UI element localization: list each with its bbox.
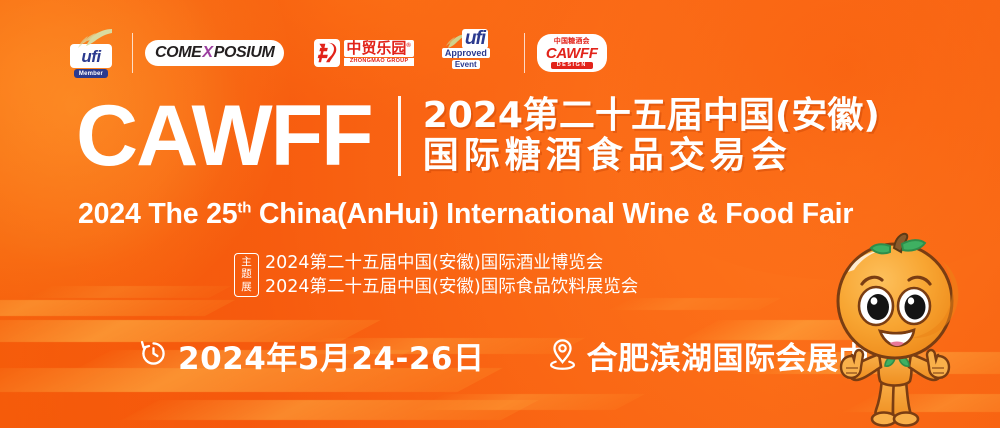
subtitle-post: China(AnHui) International Wine & Food F… (251, 198, 853, 230)
english-subtitle: 2024 The 25th China(AnHui) International… (78, 198, 853, 231)
chinese-title-line-2: 国际糖酒食品交易会 (423, 137, 880, 175)
chinese-title: 2024第二十五届中国(安徽) 国际糖酒食品交易会 (423, 97, 880, 175)
logo-ufi-member-badge: Member (74, 69, 108, 78)
cawff-seal-top-text: 中国糖酒会 (554, 38, 590, 45)
zhongmao-english-name: ZHONGMAO GROUP (344, 58, 413, 66)
subtitle-ordinal: th (237, 200, 251, 217)
theme-badge-char-3: 展 (241, 282, 252, 294)
comexposium-text-left: COME (155, 44, 201, 62)
clock-icon (138, 338, 169, 374)
comexposium-text-right: POSIUM (214, 44, 275, 62)
logo-zhongmao-group[interactable]: 中贸乐园® ZHONGMAO GROUP (314, 39, 413, 67)
theme-badge-char-2: 题 (241, 269, 252, 281)
theme-badge-char-1: 主 (241, 257, 252, 269)
theme-line-2: 2024第二十五届中国(安徽)国际食品饮料展览会 (265, 277, 638, 298)
event-date-text: 2024年5月24-26日 (178, 333, 485, 378)
comexposium-x-mark: X (201, 44, 213, 62)
zhongmao-seal-icon (314, 39, 340, 67)
zhongmao-chinese-name: 中贸乐园® (344, 40, 413, 57)
wing-icon (66, 27, 114, 49)
headline-divider (398, 96, 401, 176)
ufi-approved-wordmark: ufi (462, 29, 488, 49)
headline-block: CAWFF 2024第二十五届中国(安徽) 国际糖酒食品交易会 (76, 96, 880, 176)
ufi-approved-label: Approved (442, 48, 490, 58)
theme-badge: 主 题 展 (234, 253, 259, 297)
logo-divider-4 (524, 33, 525, 73)
logo-cawff-seal[interactable]: 中国糖酒会 CAWFF DESIGN (537, 34, 607, 73)
map-pin-icon (547, 337, 578, 375)
cawff-seal-wordmark: CAWFF (546, 46, 598, 61)
logo-divider-1 (132, 33, 133, 73)
ufi-event-label: Event (452, 60, 480, 69)
cawff-seal-sub-text: DESIGN (551, 62, 593, 70)
logo-comexposium[interactable]: COME X POSIUM (145, 40, 284, 66)
event-date: 2024年5月24-26日 (138, 333, 485, 378)
exhibition-banner: ufi Member COME X POSIUM 中贸乐园® ZHONGMAO (0, 0, 1000, 428)
theme-line-1: 2024第二十五届中国(安徽)国际酒业博览会 (265, 253, 638, 274)
event-meta-row: 2024年5月24-26日 合肥滨湖国际会展中心 (138, 333, 902, 378)
chinese-title-line-1: 2024第二十五届中国(安徽) (423, 97, 880, 135)
partner-logo-strip: ufi Member COME X POSIUM 中贸乐园® ZHONGMAO (62, 27, 607, 79)
subtitle-pre: 2024 The 25 (78, 198, 237, 230)
orange-mascot-thumbs-up (802, 228, 992, 428)
brand-wordmark: CAWFF (76, 100, 372, 172)
logo-ufi-approved-event[interactable]: ufi Approved Event (442, 29, 512, 77)
logo-ufi-member[interactable]: ufi Member (62, 28, 120, 78)
theme-exhibitions-block: 主 题 展 2024第二十五届中国(安徽)国际酒业博览会 2024第二十五届中国… (234, 253, 638, 297)
